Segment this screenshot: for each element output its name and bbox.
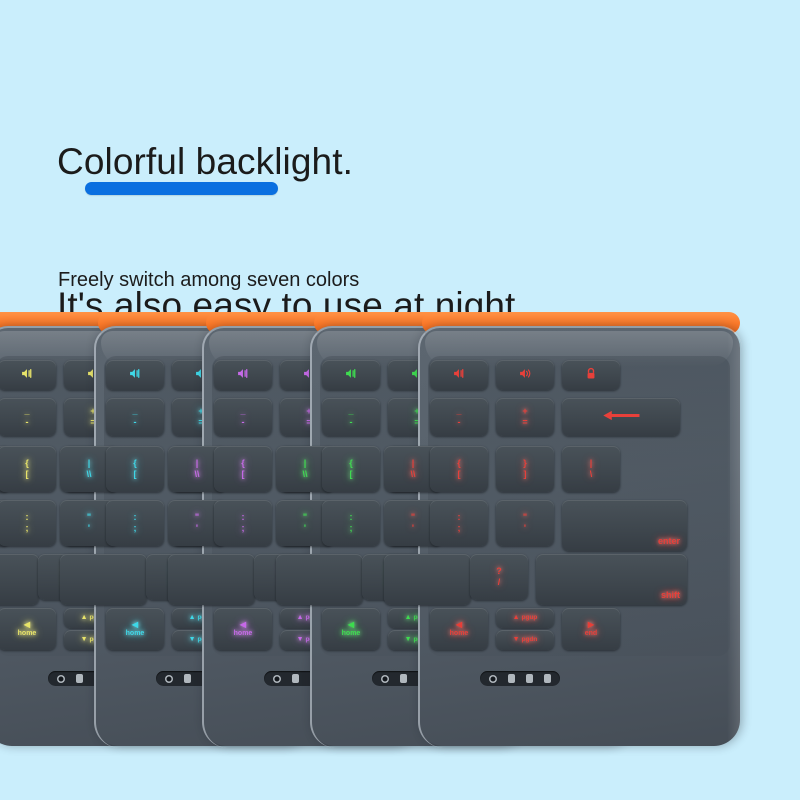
key[interactable]: {[: [430, 446, 488, 492]
key[interactable]: _-: [322, 398, 380, 436]
key[interactable]: ▼pgdn: [496, 630, 554, 650]
indicator-led: [184, 674, 191, 683]
indicator-led: [76, 674, 83, 683]
key[interactable]: [0, 360, 56, 390]
key[interactable]: :;: [106, 500, 164, 546]
key[interactable]: [562, 360, 620, 390]
indicator-led: [381, 675, 389, 683]
key[interactable]: _-: [214, 398, 272, 436]
indicator-led: [292, 674, 299, 683]
key[interactable]: ◀home: [214, 608, 272, 650]
indicator-led: [489, 675, 497, 683]
key[interactable]: ◀home: [430, 608, 488, 650]
key-cluster: _-+=|\\{[}]|\"':;"'enter?/shift◀home▲pgu…: [430, 360, 730, 656]
accent-bar: [85, 182, 278, 195]
status-indicator-leds: [480, 671, 560, 686]
key[interactable]: [384, 554, 471, 605]
key[interactable]: ◀home: [0, 608, 56, 650]
indicator-led: [526, 674, 533, 683]
key[interactable]: [106, 360, 164, 390]
key[interactable]: :;: [0, 500, 56, 546]
indicator-led: [57, 675, 65, 683]
key[interactable]: [0, 554, 39, 605]
subtitle-line-1: Freely switch among seven colors: [58, 266, 578, 295]
key[interactable]: ◀home: [106, 608, 164, 650]
key[interactable]: +=: [496, 398, 554, 436]
key[interactable]: [496, 360, 554, 390]
key[interactable]: :;: [322, 500, 380, 546]
product-feature-banner: Colorful backlight. It's also easy to us…: [0, 0, 800, 800]
key[interactable]: |\: [562, 446, 620, 492]
key[interactable]: ▲pgup: [496, 608, 554, 628]
key[interactable]: ?/: [470, 554, 528, 600]
key[interactable]: [322, 360, 380, 390]
keyboard-red: _-+=|\\{[}]|\"':;"'enter?/shift◀home▲pgu…: [418, 300, 748, 748]
key[interactable]: [562, 398, 680, 436]
key[interactable]: _-: [106, 398, 164, 436]
key[interactable]: }]: [496, 446, 554, 492]
key[interactable]: :;: [430, 500, 488, 546]
key[interactable]: enter: [562, 500, 687, 551]
key[interactable]: _-: [430, 398, 488, 436]
headline-line-1: Colorful backlight.: [57, 138, 697, 186]
key[interactable]: {[: [214, 446, 272, 492]
key[interactable]: _-: [0, 398, 56, 436]
key[interactable]: [430, 360, 488, 390]
key[interactable]: {[: [106, 446, 164, 492]
indicator-led: [165, 675, 173, 683]
keyboard-lineup: _-+=|\\{[}]|\"':;"'enter?/shift◀home▲pgu…: [0, 300, 566, 760]
indicator-led: [544, 674, 551, 683]
key[interactable]: [276, 554, 363, 605]
key[interactable]: [214, 360, 272, 390]
key[interactable]: {[: [322, 446, 380, 492]
key[interactable]: ◀home: [322, 608, 380, 650]
key[interactable]: [60, 554, 147, 605]
key[interactable]: {[: [0, 446, 56, 492]
key[interactable]: "': [496, 500, 554, 546]
indicator-led: [400, 674, 407, 683]
key[interactable]: shift: [536, 554, 687, 605]
key[interactable]: :;: [214, 500, 272, 546]
key[interactable]: [168, 554, 255, 605]
key[interactable]: ▶end: [562, 608, 620, 650]
indicator-led: [273, 675, 281, 683]
indicator-led: [508, 674, 515, 683]
